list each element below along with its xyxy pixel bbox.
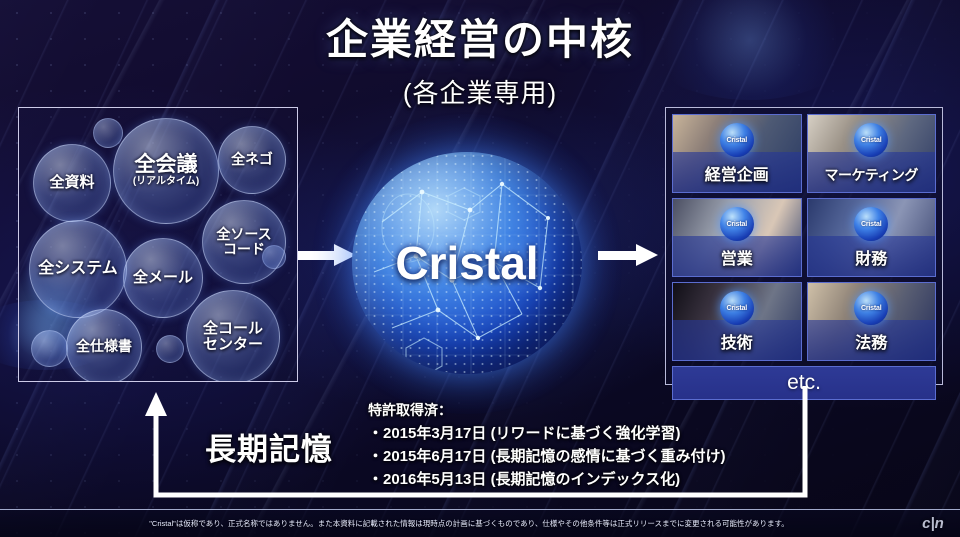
bubble-label: 全ソース: [216, 227, 271, 242]
bubble-sublabel: コード: [223, 242, 265, 257]
tile-corporate-planning[interactable]: Cristal 経営企画: [672, 114, 802, 193]
decorative-bubble-1: [93, 118, 123, 148]
globe-sphere: Cristal: [352, 152, 582, 374]
decorative-bubble-4: [156, 335, 184, 363]
tile-legal[interactable]: Cristal 法務: [807, 282, 937, 361]
globe-label: Cristal: [352, 152, 582, 374]
bubble-all-systems[interactable]: 全システム: [29, 220, 127, 318]
bubble-label: 全コール: [203, 321, 263, 337]
patent-item: ・2016年5月13日 (長期記憶のインデックス化): [368, 468, 726, 489]
bubble-label: 全会議: [135, 154, 198, 177]
page-subtitle: (各企業専用): [0, 73, 960, 110]
bubble-sublabel: (リアルタイム): [133, 177, 199, 188]
cristal-badge-icon: Cristal: [854, 291, 888, 325]
bubble-all-source-code[interactable]: 全ソース コード: [202, 200, 286, 284]
tile-finance[interactable]: Cristal 財務: [807, 198, 937, 277]
page-title: 企業経営の中核: [0, 6, 960, 67]
badge-label: Cristal: [727, 137, 747, 144]
bubble-all-meetings[interactable]: 全会議 (リアルタイム): [113, 118, 219, 224]
patent-block: 特許取得済： ・2015年3月17日 (リワードに基づく強化学習) ・2015年…: [368, 400, 726, 489]
department-tile-grid: Cristal 経営企画 Cristal マーケティング Cristal 営業 …: [672, 114, 936, 361]
decorative-bubble-3: [31, 330, 68, 367]
tile-marketing[interactable]: Cristal マーケティング: [807, 114, 937, 193]
bubble-sublabel: センター: [203, 337, 263, 353]
cristal-badge-icon: Cristal: [720, 291, 754, 325]
tile-label: 経営企画: [673, 161, 801, 185]
badge-label: Cristal: [861, 137, 881, 144]
cristal-globe: Cristal: [352, 152, 582, 374]
bubble-label: 全ネゴ: [231, 152, 273, 167]
badge-label: Cristal: [861, 221, 881, 228]
tile-label: 技術: [673, 329, 801, 353]
tile-label: 財務: [808, 245, 936, 269]
bubble-label: 全資料: [49, 175, 94, 191]
tile-sales[interactable]: Cristal 営業: [672, 198, 802, 277]
arrow-cristal-to-departments: [598, 244, 660, 266]
bubble-all-specifications[interactable]: 全仕様書: [66, 309, 142, 382]
slide-canvas: 企業経営の中核 (各企業専用) 全資料 全会議 (リアルタイム) 全ネゴ 全シス…: [0, 0, 960, 537]
cristal-badge-icon: Cristal: [720, 123, 754, 157]
departments-panel: Cristal 経営企画 Cristal マーケティング Cristal 営業 …: [665, 107, 943, 385]
disclaimer-text: "Cristal"は仮称であり、正式名称ではありません。また本資料に記載された情…: [0, 518, 912, 529]
footer-bar: "Cristal"は仮称であり、正式名称ではありません。また本資料に記載された情…: [0, 509, 960, 537]
bubble-all-mail[interactable]: 全メール: [123, 238, 203, 318]
tile-engineering[interactable]: Cristal 技術: [672, 282, 802, 361]
cristal-badge-icon: Cristal: [720, 207, 754, 241]
bubble-label: 全仕様書: [76, 339, 132, 354]
title-block: 企業経営の中核 (各企業専用): [0, 6, 960, 110]
bubble-label: 全メール: [133, 270, 193, 286]
tile-label: 営業: [673, 245, 801, 269]
cristal-badge-icon: Cristal: [854, 123, 888, 157]
badge-label: Cristal: [727, 305, 747, 312]
bubble-label: 全システム: [38, 260, 118, 277]
bubble-all-documents[interactable]: 全資料: [33, 144, 111, 222]
data-sources-panel: 全資料 全会議 (リアルタイム) 全ネゴ 全システム 全メール 全ソース コード…: [18, 107, 298, 382]
cristal-badge-icon: Cristal: [854, 207, 888, 241]
etc-label: etc.: [672, 366, 936, 400]
patent-heading: 特許取得済：: [368, 400, 726, 420]
tile-label: マーケティング: [808, 165, 936, 185]
tile-label: 法務: [808, 329, 936, 353]
bubble-all-call-center[interactable]: 全コール センター: [186, 290, 280, 382]
patent-item: ・2015年6月17日 (長期記憶の感情に基づく重み付け): [368, 445, 726, 466]
patent-item: ・2015年3月17日 (リワードに基づく強化学習): [368, 422, 726, 443]
arrow-head: [636, 244, 658, 266]
badge-label: Cristal: [727, 221, 747, 228]
arrow-shaft: [598, 251, 638, 260]
badge-label: Cristal: [861, 305, 881, 312]
bubble-all-negotiations[interactable]: 全ネゴ: [218, 126, 286, 194]
cnet-logo: c|n: [912, 513, 954, 535]
long-term-memory-label: 長期記憶: [205, 424, 333, 469]
